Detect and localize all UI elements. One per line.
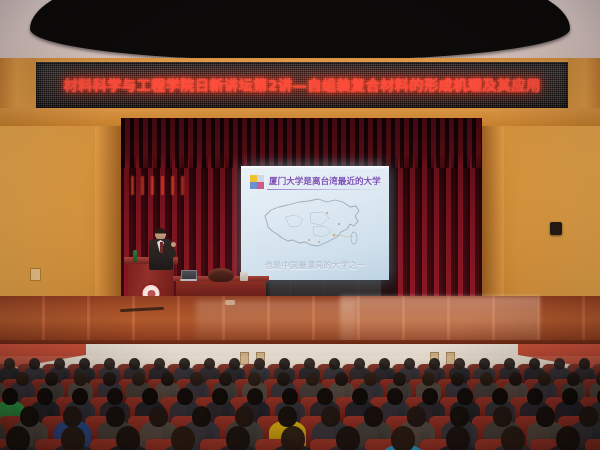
audience-head [204, 358, 215, 370]
auditorium-photo: 材料科学与工程学院日新讲坛第2讲—自组装复合材料的形成机理及其应用 厦门大学是离… [0, 0, 600, 450]
audience-head [6, 426, 30, 450]
audience-head [509, 372, 522, 386]
audience-head [179, 358, 190, 370]
audience-head [212, 388, 228, 405]
audience-head [317, 388, 333, 405]
audience-head [226, 426, 250, 450]
audience-head [16, 372, 29, 386]
audience-head [248, 372, 261, 386]
audience-head [281, 426, 305, 450]
audience-head [479, 358, 490, 370]
audience-head [492, 388, 508, 405]
floor-reflection-center [196, 300, 356, 342]
audience-head [596, 372, 600, 386]
audience-head [235, 406, 254, 427]
audience-head [329, 358, 340, 370]
audience-head [4, 358, 15, 370]
speaker-hand [171, 242, 176, 247]
audience-head [493, 406, 512, 427]
water-bottle-icon [133, 250, 137, 262]
audience-head [422, 388, 438, 405]
audience-head [529, 358, 540, 370]
slide-logo-icon [250, 175, 264, 189]
audience-head [504, 358, 515, 370]
audience-head [104, 358, 115, 370]
light-switch-icon [30, 268, 41, 281]
audience-head [538, 372, 551, 386]
audience-head [501, 426, 525, 450]
slide-title-rule [267, 189, 384, 190]
audience-head [20, 406, 39, 427]
laptop-icon [180, 270, 197, 281]
audience-head [171, 426, 195, 450]
projection-screen: 厦门大学是离台湾最近的大学 也是中国最漂亮的大学之一 [241, 166, 389, 280]
audience-head [446, 426, 470, 450]
audience-head [116, 426, 140, 450]
audience-head [278, 406, 297, 427]
stage-light-strip [128, 176, 186, 196]
audience-head [536, 406, 555, 427]
floor-marker [225, 300, 235, 305]
audience-head [429, 358, 440, 370]
audience-head [422, 372, 435, 386]
audience-head [61, 426, 85, 450]
audience-head [254, 358, 265, 370]
led-banner-panel: 材料科学与工程学院日新讲坛第2讲—自组装复合材料的形成机理及其应用 [36, 62, 568, 108]
audience-head [277, 372, 290, 386]
audience-seat [585, 439, 600, 450]
audience-head [321, 406, 340, 427]
audience-head [354, 358, 365, 370]
audience-head [54, 358, 65, 370]
audience-head [37, 388, 53, 405]
audience-head [106, 406, 125, 427]
audience-area [0, 356, 600, 450]
audience-head [364, 406, 383, 427]
audience-head [579, 406, 598, 427]
slide-title: 厦门大学是离台湾最近的大学 [269, 175, 383, 187]
audience-head [229, 358, 240, 370]
audience-head [79, 358, 90, 370]
audience-head [393, 372, 406, 386]
audience-head [454, 358, 465, 370]
audience-head [219, 372, 232, 386]
audience-head [527, 388, 543, 405]
audience-head [132, 372, 145, 386]
audience-head [149, 406, 168, 427]
audience-head [2, 388, 18, 405]
audience-head [72, 388, 88, 405]
speaker-person [148, 228, 174, 270]
audience-head [562, 388, 578, 405]
audience-head [154, 358, 165, 370]
audience-head [45, 372, 58, 386]
audience-head [451, 372, 464, 386]
audience-head [352, 388, 368, 405]
audience-head [556, 426, 580, 450]
speaker-tie [160, 242, 163, 253]
audience-head [457, 388, 473, 405]
audience-head [107, 388, 123, 405]
audience-head [567, 372, 580, 386]
ceiling [0, 0, 600, 62]
audience-head [304, 358, 315, 370]
wall-device-icon [550, 222, 562, 235]
audience-head [142, 388, 158, 405]
ceiling-arch [30, 0, 570, 60]
audience-head [450, 406, 469, 427]
audience-head [282, 388, 298, 405]
audience-head [190, 372, 203, 386]
audience-head [364, 372, 377, 386]
audience-head [336, 426, 360, 450]
audience-head [247, 388, 263, 405]
audience-head [29, 358, 40, 370]
audience-head [404, 358, 415, 370]
audience-head [335, 372, 348, 386]
audience-head [279, 358, 290, 370]
audience-head [63, 406, 82, 427]
china-map-icon [255, 193, 377, 255]
audience-head [379, 358, 390, 370]
table-cup-icon [240, 272, 248, 281]
audience-head [387, 388, 403, 405]
audience-head [103, 372, 116, 386]
led-banner-text: 材料科学与工程学院日新讲坛第2讲—自组装复合材料的形成机理及其应用 [36, 75, 568, 96]
screen-top-edge [241, 166, 389, 170]
audience-head [161, 372, 174, 386]
audience-head [177, 388, 193, 405]
audience-head [579, 358, 590, 370]
table-bowl-icon [208, 268, 234, 282]
audience-head [192, 406, 211, 427]
audience-head [391, 426, 415, 450]
audience-head [74, 372, 87, 386]
audience-head [129, 358, 140, 370]
slide-subtitle: 也是中国最漂亮的大学之一 [241, 259, 389, 271]
audience-head [480, 372, 493, 386]
floor-reflection-right [340, 296, 540, 344]
stage-curtain-valance [121, 118, 482, 168]
audience-head [407, 406, 426, 427]
audience-head [306, 372, 319, 386]
audience-head [554, 358, 565, 370]
